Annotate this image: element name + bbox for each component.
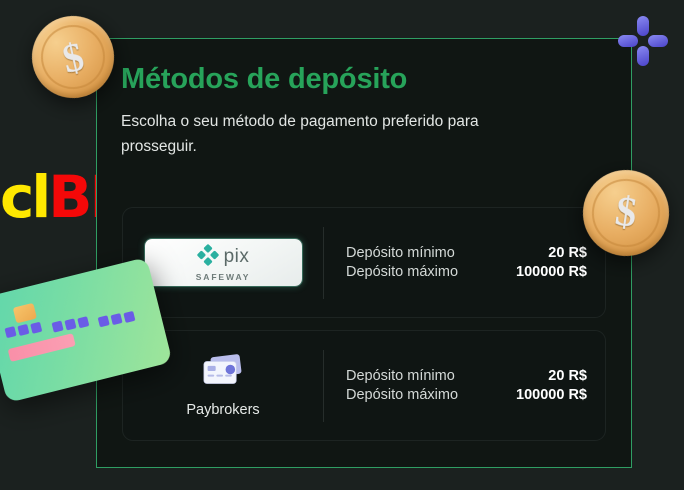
paybrokers-label: Paybrokers: [186, 402, 259, 418]
card-dot: [110, 313, 122, 325]
min-deposit-label: Depósito mínimo: [346, 368, 455, 384]
pix-brand-sublabel: SAFEWAY: [196, 272, 251, 282]
deposit-methods-panel: Métodos de depósito Escolha o seu método…: [96, 38, 632, 468]
min-deposit-value: 20 R$: [548, 245, 587, 261]
panel-header: Métodos de depósito Escolha o seu método…: [121, 64, 607, 159]
panel-inner: Métodos de depósito Escolha o seu método…: [97, 39, 631, 467]
page-subtitle: Escolha o seu método de pagamento prefer…: [121, 110, 551, 160]
info-row: Depósito mínimo 20 R$: [346, 368, 587, 384]
pix-info-column: Depósito mínimo 20 R$ Depósito máximo 10…: [324, 242, 605, 283]
page-stage: Métodos de depósito Escolha o seu método…: [0, 0, 684, 490]
payment-method-paybrokers[interactable]: Paybrokers Depósito mínimo 20 R$ Depósit…: [122, 330, 606, 441]
card-dot: [52, 321, 64, 333]
paybrokers-info-column: Depósito mínimo 20 R$ Depósito máximo 10…: [324, 365, 605, 406]
page-title: Métodos de depósito: [121, 64, 607, 96]
paybrokers-logo-wrap: Paybrokers: [186, 354, 259, 418]
card-dot: [64, 318, 76, 330]
pix-safeway-logo: pix SAFEWAY: [145, 239, 302, 286]
pix-logo-column: pix SAFEWAY: [123, 239, 323, 286]
card-dot: [17, 324, 29, 336]
sparkle-arm-left: [618, 35, 638, 47]
card-chip: [13, 303, 37, 324]
info-row: Depósito máximo 100000 R$: [346, 264, 587, 280]
sparkle-arm-top: [637, 16, 649, 36]
info-row: Depósito mínimo 20 R$: [346, 245, 587, 261]
payment-method-pix-safeway[interactable]: pix SAFEWAY Depósito mínimo 20 R$ Depósi…: [122, 207, 606, 318]
max-deposit-value: 100000 R$: [516, 264, 587, 280]
card-dot: [4, 326, 16, 338]
card-dot: [30, 322, 42, 334]
pix-brand-word: pix: [224, 248, 250, 265]
payment-methods-list: pix SAFEWAY Depósito mínimo 20 R$ Depósi…: [122, 207, 606, 441]
min-deposit-value: 20 R$: [548, 368, 587, 384]
watermark-text-cl: cl: [0, 163, 48, 231]
min-deposit-label: Depósito mínimo: [346, 245, 455, 261]
max-deposit-label: Depósito máximo: [346, 387, 458, 403]
max-deposit-label: Depósito máximo: [346, 264, 458, 280]
purple-plus-sparkle-icon: [618, 16, 668, 66]
card-dot: [98, 315, 110, 327]
card-dot: [77, 316, 89, 328]
pix-diamond-icon: [197, 244, 219, 271]
sparkle-arm-right: [648, 35, 668, 47]
card-magnetic-stripe: [8, 333, 76, 362]
credit-card-icon: [201, 354, 245, 393]
sparkle-arm-bottom: [637, 46, 649, 66]
info-row: Depósito máximo 100000 R$: [346, 387, 587, 403]
max-deposit-value: 100000 R$: [516, 387, 587, 403]
pix-logo-top: pix: [197, 244, 250, 271]
card-dot: [123, 311, 135, 323]
